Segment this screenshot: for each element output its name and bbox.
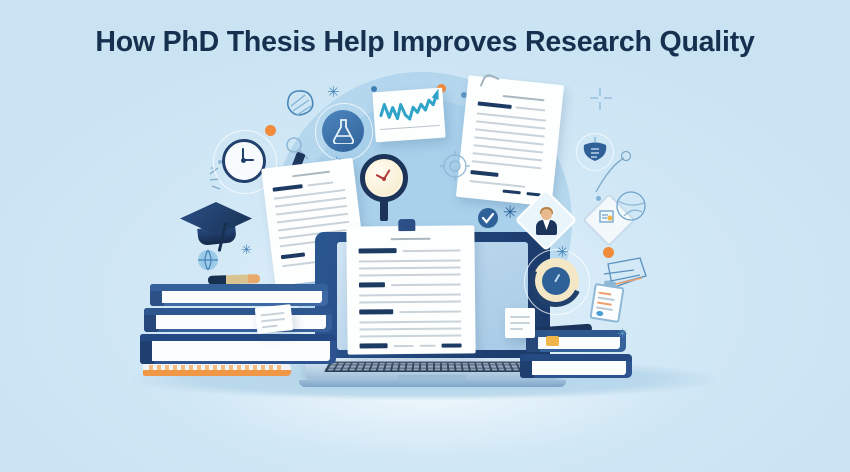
page-title: How PhD Thesis Help Improves Research Qu… <box>0 26 850 59</box>
paper-ball-icon <box>283 88 317 120</box>
magnifying-glass-with-clock-icon <box>360 154 412 226</box>
gear-outline-icon <box>437 148 473 184</box>
laptop-keyboard[interactable] <box>324 361 542 372</box>
researcher-id-card <box>524 198 568 242</box>
refresh-clock-icon <box>533 258 579 304</box>
thesis-document-on-screen <box>346 225 475 354</box>
paper-scrap <box>505 308 535 338</box>
line-chart-card <box>372 88 445 143</box>
book <box>520 354 632 378</box>
orange-dot <box>265 125 276 136</box>
wall-clock-icon <box>222 139 266 183</box>
line-chart-svg <box>372 88 445 143</box>
paper-scrap <box>255 304 294 334</box>
book <box>526 330 626 352</box>
book <box>150 284 328 306</box>
check-circle-icon <box>478 208 498 228</box>
book <box>140 334 336 364</box>
globe-outline-icon <box>612 187 652 227</box>
illustration-canvas: How PhD Thesis Help Improves Research Qu… <box>0 0 850 472</box>
sparkle-icon: ✳ <box>556 245 569 260</box>
sparkle-icon: ✳ <box>327 85 340 100</box>
sparkle-icon: ✳ <box>617 327 628 340</box>
book <box>144 308 332 332</box>
floating-paper-right <box>456 75 564 206</box>
science-flask-icon <box>322 110 364 152</box>
blue-dot <box>371 86 377 92</box>
document-clip <box>398 219 415 231</box>
globe-icon <box>196 248 222 274</box>
sparkle-icon: ✳ <box>503 204 517 221</box>
orange-spiral-notebook <box>143 364 291 376</box>
clipboard-checklist-icon <box>589 283 624 323</box>
small-sparkle-icon <box>586 84 616 114</box>
